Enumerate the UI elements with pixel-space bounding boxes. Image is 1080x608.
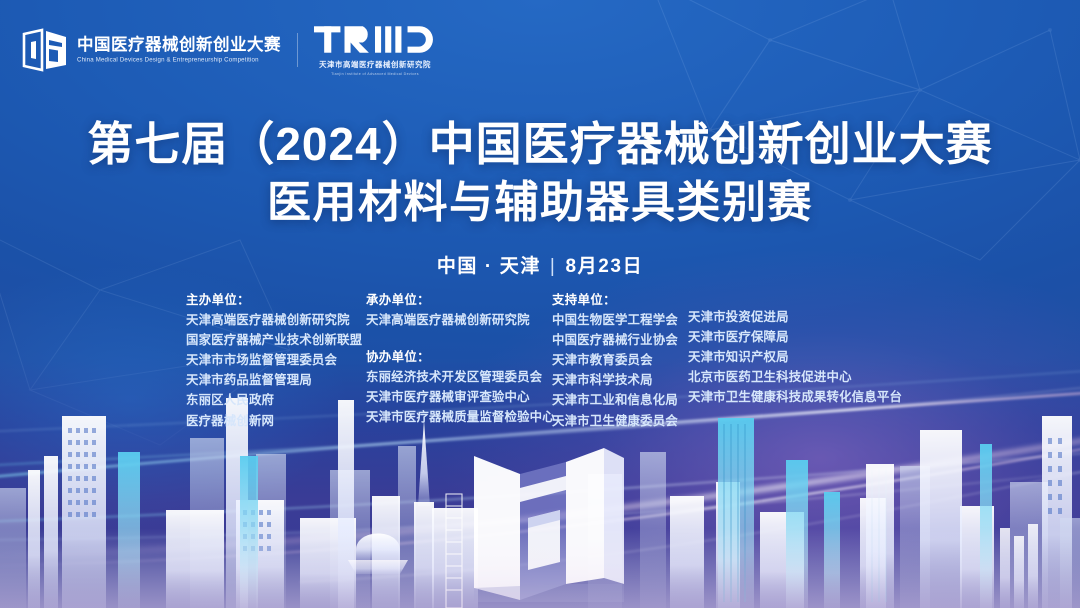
organizer-item: 天津高端医疗器械创新研究院 <box>186 310 366 330</box>
logo-divider <box>297 33 298 67</box>
organizer-item: 中国医疗器械行业协会 <box>552 330 688 350</box>
institute-logo: 天津市高端医疗器械创新研究院 Tianjin Institute of Adva… <box>314 24 436 76</box>
organizer-item: 中国生物医学工程学会 <box>552 310 688 330</box>
organizer-heading-coorganizer: 协办单位： <box>366 347 552 367</box>
header-logos: 中国医疗器械创新创业大赛 China Medical Devices Desig… <box>22 24 436 76</box>
organizer-item: 天津市卫生健康委员会 <box>552 411 688 431</box>
organizer-heading-undertaker: 承办单位： <box>366 290 552 310</box>
competition-logo-text: 中国医疗器械创新创业大赛 China Medical Devices Desig… <box>77 36 281 64</box>
organizer-item: 北京市医药卫生科技促进中心 <box>688 367 902 387</box>
organizer-block: 主办单位： 天津高端医疗器械创新研究院 国家医疗器械产业技术创新联盟 天津市市场… <box>186 290 902 431</box>
competition-logo: 中国医疗器械创新创业大赛 China Medical Devices Desig… <box>22 28 281 72</box>
institute-logo-cn: 天津市高端医疗器械创新研究院 <box>319 59 431 70</box>
organizer-column-host: 主办单位： 天津高端医疗器械创新研究院 国家医疗器械产业技术创新联盟 天津市市场… <box>186 290 366 431</box>
competition-logo-cn: 中国医疗器械创新创业大赛 <box>77 36 281 54</box>
page-title-line2: 医用材料与辅助器具类别赛 <box>0 176 1080 231</box>
organizer-item: 天津市药品监督管理局 <box>186 370 366 390</box>
organizer-item: 天津市医疗器械审评查验中心 <box>366 387 552 407</box>
organizer-item: 天津市医疗器械质量监督检验中心 <box>366 407 552 427</box>
event-location: 中国 · 天津 <box>437 256 541 277</box>
organizer-item: 东丽区人民政府 <box>186 390 366 410</box>
event-date: 8月23日 <box>565 256 643 277</box>
triid-wordmark-icon <box>314 24 436 56</box>
organizer-heading-host: 主办单位： <box>186 290 366 310</box>
organizer-item: 国家医疗器械产业技术创新联盟 <box>186 330 366 350</box>
organizer-column-supporter-a: 支持单位： 中国生物医学工程学会 中国医疗器械行业协会 天津市教育委员会 天津市… <box>552 290 688 431</box>
organizer-item: 天津市知识产权局 <box>688 347 902 367</box>
organizer-item: 天津市医疗保障局 <box>688 327 902 347</box>
title-block: 第七届（2024）中国医疗器械创新创业大赛 医用材料与辅助器具类别赛 中国 · … <box>0 116 1080 278</box>
organizer-item: 东丽经济技术开发区管理委员会 <box>366 367 552 387</box>
organizer-heading-supporter: 支持单位： <box>552 290 688 310</box>
event-subtitle: 中国 · 天津|8月23日 <box>0 251 1080 278</box>
organizer-item: 天津市投资促进局 <box>688 307 902 327</box>
organizer-item: 天津市卫生健康科技成果转化信息平台 <box>688 387 902 407</box>
open-door-logo-icon <box>22 28 68 72</box>
subtitle-separator: | <box>550 256 557 278</box>
competition-logo-en: China Medical Devices Design & Entrepren… <box>77 56 281 64</box>
organizer-item: 医疗器械创新网 <box>186 411 366 431</box>
event-poster: 中国医疗器械创新创业大赛 China Medical Devices Desig… <box>0 0 1080 608</box>
page-title-line1: 第七届（2024）中国医疗器械创新创业大赛 <box>0 116 1080 172</box>
organizer-item: 天津市教育委员会 <box>552 350 688 370</box>
organizer-column-supporter-b: 天津市投资促进局 天津市医疗保障局 天津市知识产权局 北京市医药卫生科技促进中心… <box>688 307 902 407</box>
organizer-column-undertaker: 承办单位： 天津高端医疗器械创新研究院 协办单位： 东丽经济技术开发区管理委员会… <box>366 290 552 428</box>
organizer-item: 天津市工业和信息化局 <box>552 390 688 410</box>
organizer-item: 天津市市场监督管理委员会 <box>186 350 366 370</box>
organizer-item: 天津高端医疗器械创新研究院 <box>366 310 552 330</box>
institute-logo-en: Tianjin Institute of Advanced Medical De… <box>331 72 419 76</box>
organizer-item: 天津市科学技术局 <box>552 370 688 390</box>
organizer-column-spacer <box>366 330 552 347</box>
